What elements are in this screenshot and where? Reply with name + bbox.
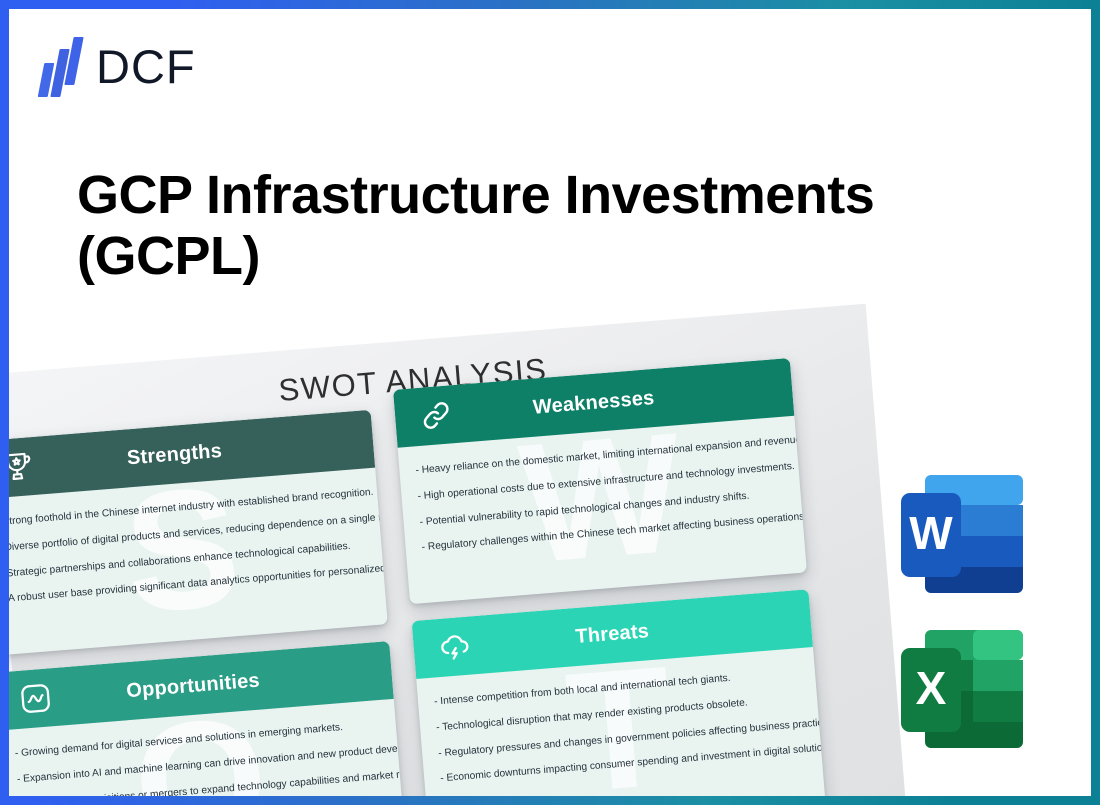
dcf-logo: DCF — [39, 35, 196, 97]
svg-text:X: X — [916, 662, 947, 714]
page-title: GCP Infrastructure Investments (GCPL) — [77, 165, 947, 287]
swot-analysis-graphic: SWOT ANALYSIS Strengths S - — [9, 304, 906, 796]
weaknesses-list: - Heavy reliance on the domestic market,… — [415, 435, 787, 555]
microsoft-excel-icon[interactable]: X — [897, 626, 1027, 756]
strengths-body: S - Strong foothold in the Chinese inter… — [9, 468, 388, 656]
trend-chart-icon — [17, 680, 54, 717]
page-title-line2: (GCPL) — [77, 226, 947, 287]
threats-list: - Intense competition from both local an… — [434, 666, 806, 786]
weaknesses-body: W - Heavy reliance on the domestic marke… — [398, 416, 807, 604]
strengths-list: - Strong foothold in the Chinese interne… — [9, 487, 368, 607]
svg-text:W: W — [909, 507, 953, 559]
brand-name: DCF — [96, 43, 196, 90]
page-title-line1: GCP Infrastructure Investments — [77, 165, 874, 225]
page-border-frame: DCF GCP Infrastructure Investments (GCPL… — [0, 0, 1100, 805]
swot-card-strengths: Strengths S - Strong foothold in the Chi… — [9, 410, 388, 656]
page-canvas: DCF GCP Infrastructure Investments (GCPL… — [9, 9, 1091, 796]
dcf-bars-logo-icon — [39, 35, 85, 97]
swot-card-threats: Threats T - Intense competition from bot… — [412, 589, 826, 796]
link-chain-icon — [418, 397, 455, 434]
microsoft-word-icon[interactable]: W — [897, 471, 1027, 601]
swot-card-weaknesses: Weaknesses W - Heavy reliance on the dom… — [393, 358, 807, 604]
storm-cloud-icon — [436, 628, 473, 665]
opportunities-list: - Growing demand for digital services an… — [14, 718, 386, 796]
trophy-icon — [9, 449, 35, 486]
swot-card-opportunities: Opportunities O - Growing demand for dig… — [9, 641, 406, 796]
